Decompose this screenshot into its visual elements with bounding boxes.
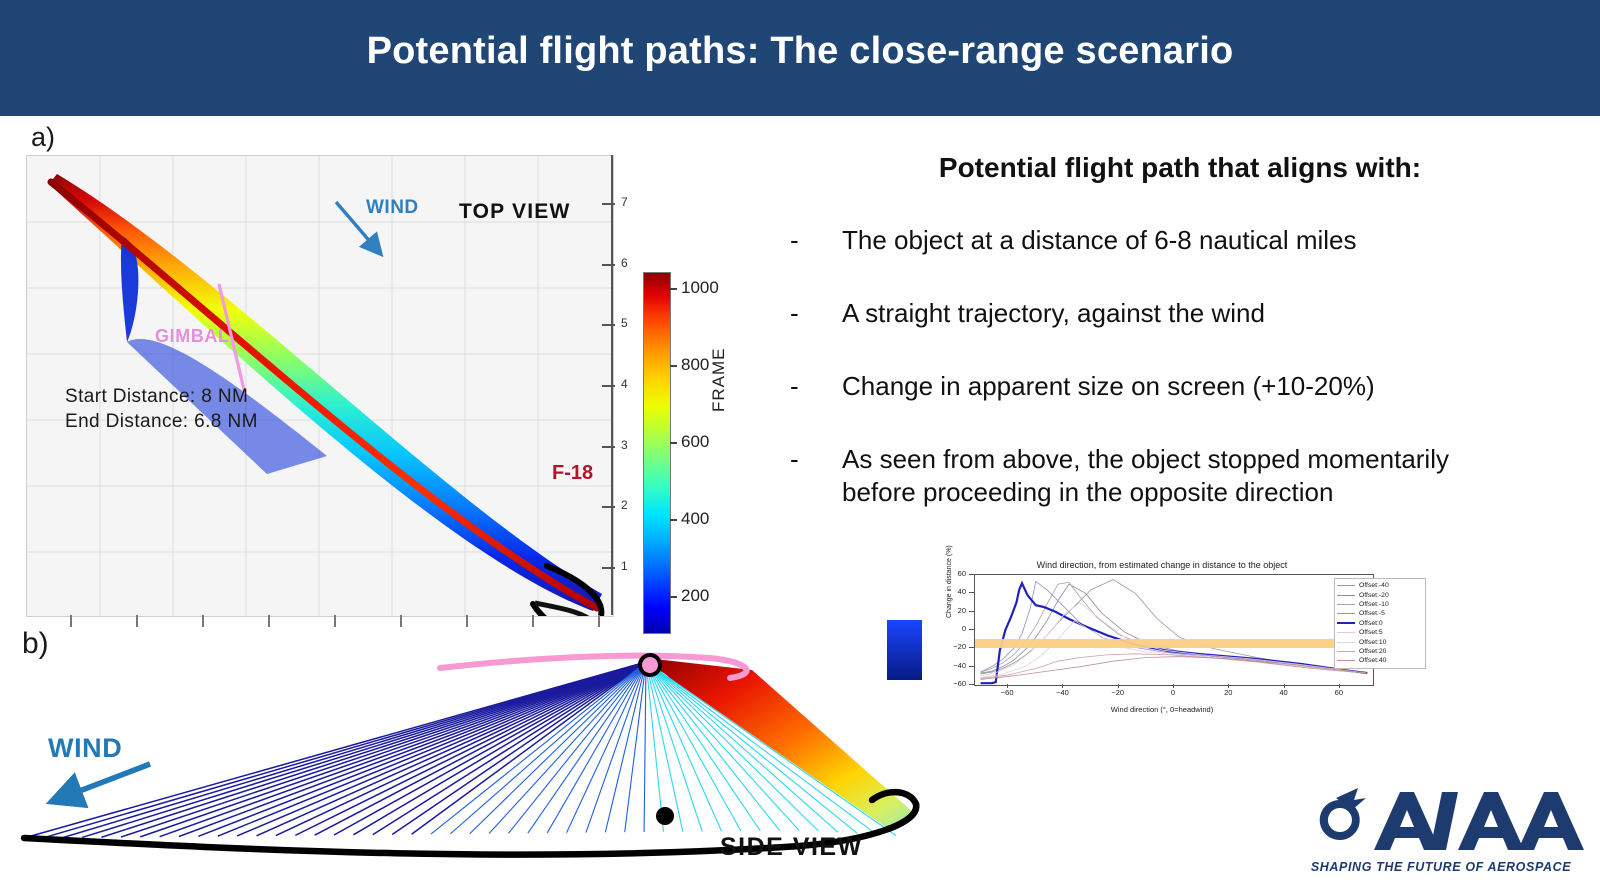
- chart-y-tick-label: 40: [940, 587, 966, 596]
- chart-series-line: [981, 584, 1368, 673]
- chart-y-tick: [969, 574, 974, 575]
- sight-ray: [257, 662, 646, 836]
- sight-ray: [82, 662, 646, 837]
- colorbar-tick-label: 600: [681, 432, 709, 452]
- chart-xlabel: Wind direction (°, 0=headwind): [922, 705, 1402, 714]
- side-view-label: SIDE VIEW: [720, 833, 863, 862]
- gimbal-point-marker: [640, 655, 660, 675]
- chart-x-tick: [1284, 684, 1285, 688]
- sight-ray: [392, 662, 646, 834]
- sight-ray: [334, 662, 646, 835]
- chart-x-tick: [1118, 684, 1119, 688]
- sight-ray: [218, 662, 646, 836]
- bullets-title: Potential flight path that aligns with:: [770, 152, 1590, 184]
- sight-ray: [450, 662, 646, 834]
- chart-x-tick-label: −60: [994, 688, 1020, 697]
- bullet-item: - The object at a distance of 6-8 nautic…: [790, 224, 1510, 257]
- chart-legend-item: Offset:-5: [1337, 609, 1423, 618]
- bullet-marker: -: [790, 224, 824, 257]
- inset-colorbar: [887, 620, 923, 680]
- wind-arrow-side-view: [38, 758, 158, 813]
- chart-x-tick: [1062, 684, 1063, 688]
- chart-legend-label: Offset:-5: [1359, 610, 1385, 617]
- chart-x-tick-label: 20: [1215, 688, 1241, 697]
- chart-legend-swatch: [1337, 642, 1355, 643]
- y-axis: 7654321: [611, 155, 645, 615]
- chart-y-tick: [969, 647, 974, 648]
- y-axis-tick-label: 2: [621, 498, 628, 512]
- sight-ray: [644, 662, 646, 832]
- chart-y-tick-label: −20: [940, 642, 966, 651]
- chart-title: Wind direction, from estimated change in…: [922, 560, 1402, 570]
- chart-series-line: [981, 581, 1368, 673]
- chart-legend-item: Offset:20: [1337, 647, 1423, 656]
- chart-legend-swatch: [1337, 613, 1355, 614]
- chart-x-tick: [1228, 684, 1229, 688]
- y-axis-tick-label: 1: [621, 559, 628, 573]
- chart-series-line: [981, 621, 1368, 678]
- aiaa-tagline: SHAPING THE FUTURE OF AEROSPACE: [1296, 860, 1586, 874]
- chart-series-line: [981, 580, 1368, 674]
- chart-y-tick-label: 20: [940, 606, 966, 615]
- sight-ray: [121, 662, 646, 837]
- bullet-text: A straight trajectory, against the wind: [842, 297, 1510, 330]
- y-axis-tick: [602, 203, 615, 205]
- page-title: Potential flight paths: The close-range …: [0, 30, 1600, 73]
- bullet-marker: -: [790, 370, 824, 403]
- y-axis-tick: [602, 446, 615, 448]
- object-path-surface: [646, 658, 915, 828]
- chart-legend-label: Offset:-10: [1359, 601, 1389, 608]
- chart-legend-item: Offset:40: [1337, 656, 1423, 665]
- chart-plot-area: [974, 574, 1374, 686]
- top-view-label: TOP VIEW: [459, 200, 571, 224]
- chart-y-tick-label: 0: [940, 624, 966, 633]
- chart-x-tick-label: −40: [1049, 688, 1075, 697]
- chart-legend-label: Offset:-40: [1359, 582, 1389, 589]
- chart-legend-swatch: [1337, 651, 1355, 652]
- title-bar: Potential flight paths: The close-range …: [0, 0, 1600, 116]
- chart-x-tick: [1339, 684, 1340, 688]
- chart-legend-swatch: [1337, 632, 1355, 633]
- colorbar-tick: [670, 519, 677, 521]
- chart-y-tick: [969, 629, 974, 630]
- chart-legend-swatch: [1337, 595, 1355, 596]
- bullet-item: - Change in apparent size on screen (+10…: [790, 370, 1510, 403]
- aiaa-logo: SHAPING THE FUTURE OF AEROSPACE: [1296, 786, 1586, 881]
- y-axis-tick: [602, 264, 615, 266]
- y-axis-tick: [602, 506, 615, 508]
- chart-x-tick-label: 60: [1326, 688, 1352, 697]
- y-axis-tick: [602, 385, 615, 387]
- chart-legend-item: Offset:5: [1337, 628, 1423, 637]
- y-axis-tick-label: 4: [621, 377, 628, 391]
- y-axis-tick: [602, 324, 615, 326]
- chart-legend-item: Offset:-40: [1337, 581, 1423, 590]
- chart-legend-label: Offset:40: [1359, 657, 1386, 664]
- chart-legend-swatch: [1337, 604, 1355, 605]
- chart-y-tick: [969, 611, 974, 612]
- aiaa-wordmark: [1296, 786, 1586, 858]
- chart-y-tick: [969, 666, 974, 667]
- chart-x-tick: [1007, 684, 1008, 688]
- sight-ray: [198, 662, 646, 836]
- colorbar-tick: [670, 442, 677, 444]
- chart-y-tick: [969, 592, 974, 593]
- wind-arrow-top-view: [332, 198, 402, 268]
- y-axis-tick-label: 5: [621, 316, 628, 330]
- y-axis-tick-label: 6: [621, 256, 628, 270]
- chart-x-tick-label: 0: [1160, 688, 1186, 697]
- chart-legend-label: Offset:5: [1359, 629, 1383, 636]
- chart-y-tick-label: 60: [940, 569, 966, 578]
- colorbar-tick: [670, 596, 677, 598]
- aircraft-label: F-18: [552, 462, 593, 485]
- chart-legend-item: Offset:0: [1337, 619, 1423, 628]
- chart-x-tick-label: −20: [1105, 688, 1131, 697]
- end-distance-label: End Distance: 6.8 NM: [65, 411, 258, 433]
- bullet-item: - As seen from above, the object stopped…: [790, 443, 1510, 510]
- sight-ray: [237, 662, 646, 836]
- colorbar-tick: [670, 365, 677, 367]
- chart-legend-label: Offset:0: [1359, 620, 1383, 627]
- colorbar-tick-label: 800: [681, 355, 709, 375]
- aircraft-point-marker: [656, 807, 674, 825]
- chart-legend-swatch: [1337, 660, 1355, 661]
- chart-series-layer: [975, 575, 1373, 685]
- colorbar-tick-label: 1000: [681, 278, 719, 298]
- bullet-text: As seen from above, the object stopped m…: [842, 443, 1510, 510]
- chart-legend-item: Offset:10: [1337, 637, 1423, 646]
- chart-legend-swatch: [1337, 585, 1355, 586]
- chart-x-tick-label: 40: [1271, 688, 1297, 697]
- chart-legend-item: Offset:-20: [1337, 590, 1423, 599]
- sight-ray: [160, 662, 646, 837]
- bullet-text: The object at a distance of 6-8 nautical…: [842, 224, 1510, 257]
- chart-series-line: [981, 582, 1368, 673]
- y-axis-tick-label: 7: [621, 195, 628, 209]
- chart-x-tick: [1173, 684, 1174, 688]
- colorbar-tick: [670, 288, 677, 290]
- bullet-item: - A straight trajectory, against the win…: [790, 297, 1510, 330]
- bullet-text: Change in apparent size on screen (+10-2…: [842, 370, 1510, 403]
- start-distance-label: Start Distance: 8 NM: [65, 386, 248, 408]
- bullet-marker: -: [790, 443, 824, 476]
- sight-ray: [102, 662, 646, 837]
- chart-legend: Offset:-40Offset:-20Offset:-10Offset:-5O…: [1334, 578, 1426, 669]
- y-axis-tick-label: 3: [621, 438, 628, 452]
- colorbar-tick-label: 400: [681, 509, 709, 529]
- chart-legend-label: Offset:-20: [1359, 592, 1389, 599]
- panel-a-label: a): [31, 122, 55, 153]
- chart-legend-label: Offset:10: [1359, 639, 1386, 646]
- y-axis-tick: [602, 567, 615, 569]
- chart-legend-label: Offset:20: [1359, 648, 1386, 655]
- colorbar: FRAME 1000800600400200: [643, 272, 733, 632]
- chart-y-tick: [969, 684, 974, 685]
- bullet-marker: -: [790, 297, 824, 330]
- chart-highlight-band: [975, 639, 1373, 648]
- colorbar-gradient: [643, 272, 671, 634]
- gimbal-label: GIMBAL: [155, 326, 230, 347]
- wind-direction-chart: Wind direction, from estimated change in…: [922, 560, 1402, 724]
- colorbar-tick-label: 200: [681, 586, 709, 606]
- chart-legend-swatch: [1337, 622, 1355, 624]
- chart-y-tick-label: −60: [940, 679, 966, 688]
- chart-legend-item: Offset:-10: [1337, 600, 1423, 609]
- colorbar-title: FRAME: [709, 348, 729, 413]
- chart-y-tick-label: −40: [940, 661, 966, 670]
